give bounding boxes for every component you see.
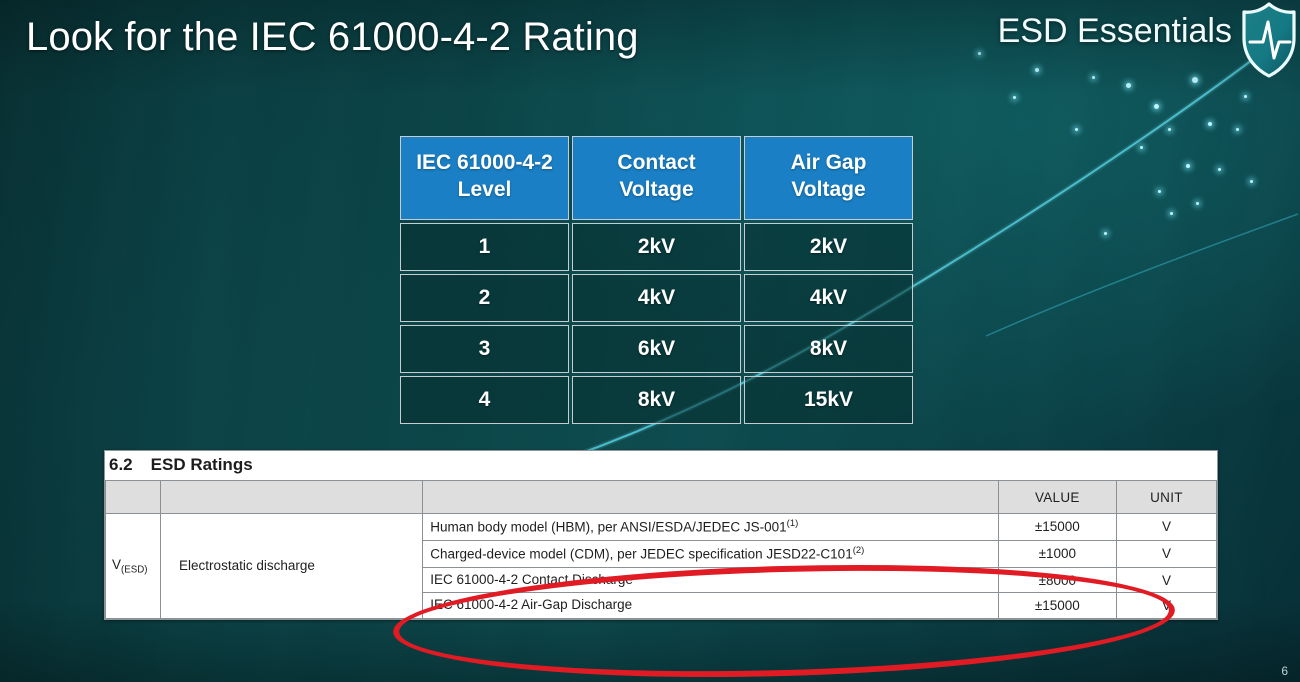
datasheet-section-heading: 6.2 ESD Ratings	[105, 451, 1217, 480]
condition-description: IEC 61000-4-2 Air-Gap Discharge	[423, 593, 999, 618]
cell-level: 1	[400, 223, 569, 271]
unit-cell: V	[1116, 567, 1216, 592]
header-spacer	[161, 481, 423, 514]
value-cell: ±15000	[998, 514, 1116, 541]
table-row: 3 6kV 8kV	[400, 325, 913, 373]
cell-level: 2	[400, 274, 569, 322]
column-header-contact-voltage: Contact Voltage	[572, 136, 741, 220]
value-cell: ±1000	[998, 540, 1116, 567]
brand-name: ESD Essentials	[998, 12, 1232, 51]
iec-level-table: IEC 61000-4-2 Level Contact Voltage Air …	[397, 133, 916, 427]
value-cell: ±15000	[998, 593, 1116, 618]
table-row: 2 4kV 4kV	[400, 274, 913, 322]
section-number: 6.2	[109, 455, 133, 475]
symbol-cell: V(ESD)	[106, 514, 161, 619]
brand-lockup: ESD Essentials	[998, 12, 1232, 51]
page-number: 6	[1281, 664, 1288, 678]
unit-cell: V	[1116, 514, 1216, 541]
shield-waveform-icon	[1240, 2, 1298, 78]
cell-air-gap-voltage: 2kV	[744, 223, 913, 271]
condition-description: Charged-device model (CDM), per JEDEC sp…	[423, 540, 999, 567]
column-header-value: VALUE	[998, 481, 1116, 514]
column-header-level: IEC 61000-4-2 Level	[400, 136, 569, 220]
column-header-unit: UNIT	[1116, 481, 1216, 514]
cell-contact-voltage: 8kV	[572, 376, 741, 424]
table-row: 4 8kV 15kV	[400, 376, 913, 424]
cell-level: 3	[400, 325, 569, 373]
cell-level: 4	[400, 376, 569, 424]
esd-ratings-table: VALUE UNIT V(ESD) Electrostatic discharg…	[105, 480, 1217, 619]
cell-air-gap-voltage: 4kV	[744, 274, 913, 322]
condition-description: Human body model (HBM), per ANSI/ESDA/JE…	[423, 514, 999, 541]
unit-cell: V	[1116, 540, 1216, 567]
header-spacer	[423, 481, 999, 514]
footnote-marker: (2)	[853, 545, 865, 556]
symbol-subscript: (ESD)	[121, 564, 147, 575]
cell-air-gap-voltage: 15kV	[744, 376, 913, 424]
value-cell: ±8000	[998, 567, 1116, 592]
table-header-row: IEC 61000-4-2 Level Contact Voltage Air …	[400, 136, 913, 220]
cell-contact-voltage: 6kV	[572, 325, 741, 373]
footnote-marker: (1)	[787, 518, 799, 529]
cell-contact-voltage: 4kV	[572, 274, 741, 322]
page-title: Look for the IEC 61000-4-2 Rating	[26, 15, 639, 60]
table-row: V(ESD) Electrostatic discharge Human bod…	[106, 514, 1217, 541]
presentation-slide: Look for the IEC 61000-4-2 Rating ESD Es…	[0, 0, 1300, 682]
column-header-air-gap-voltage: Air Gap Voltage	[744, 136, 913, 220]
table-header-row: VALUE UNIT	[106, 481, 1217, 514]
table-row: 1 2kV 2kV	[400, 223, 913, 271]
datasheet-excerpt: 6.2 ESD Ratings VALUE UNIT	[104, 450, 1218, 620]
cell-air-gap-voltage: 8kV	[744, 325, 913, 373]
header-spacer	[106, 481, 161, 514]
section-title: ESD Ratings	[151, 455, 253, 475]
cell-contact-voltage: 2kV	[572, 223, 741, 271]
condition-description: IEC 61000-4-2 Contact Discharge	[423, 567, 999, 592]
parameter-cell: Electrostatic discharge	[161, 514, 423, 619]
unit-cell: V	[1116, 593, 1216, 618]
